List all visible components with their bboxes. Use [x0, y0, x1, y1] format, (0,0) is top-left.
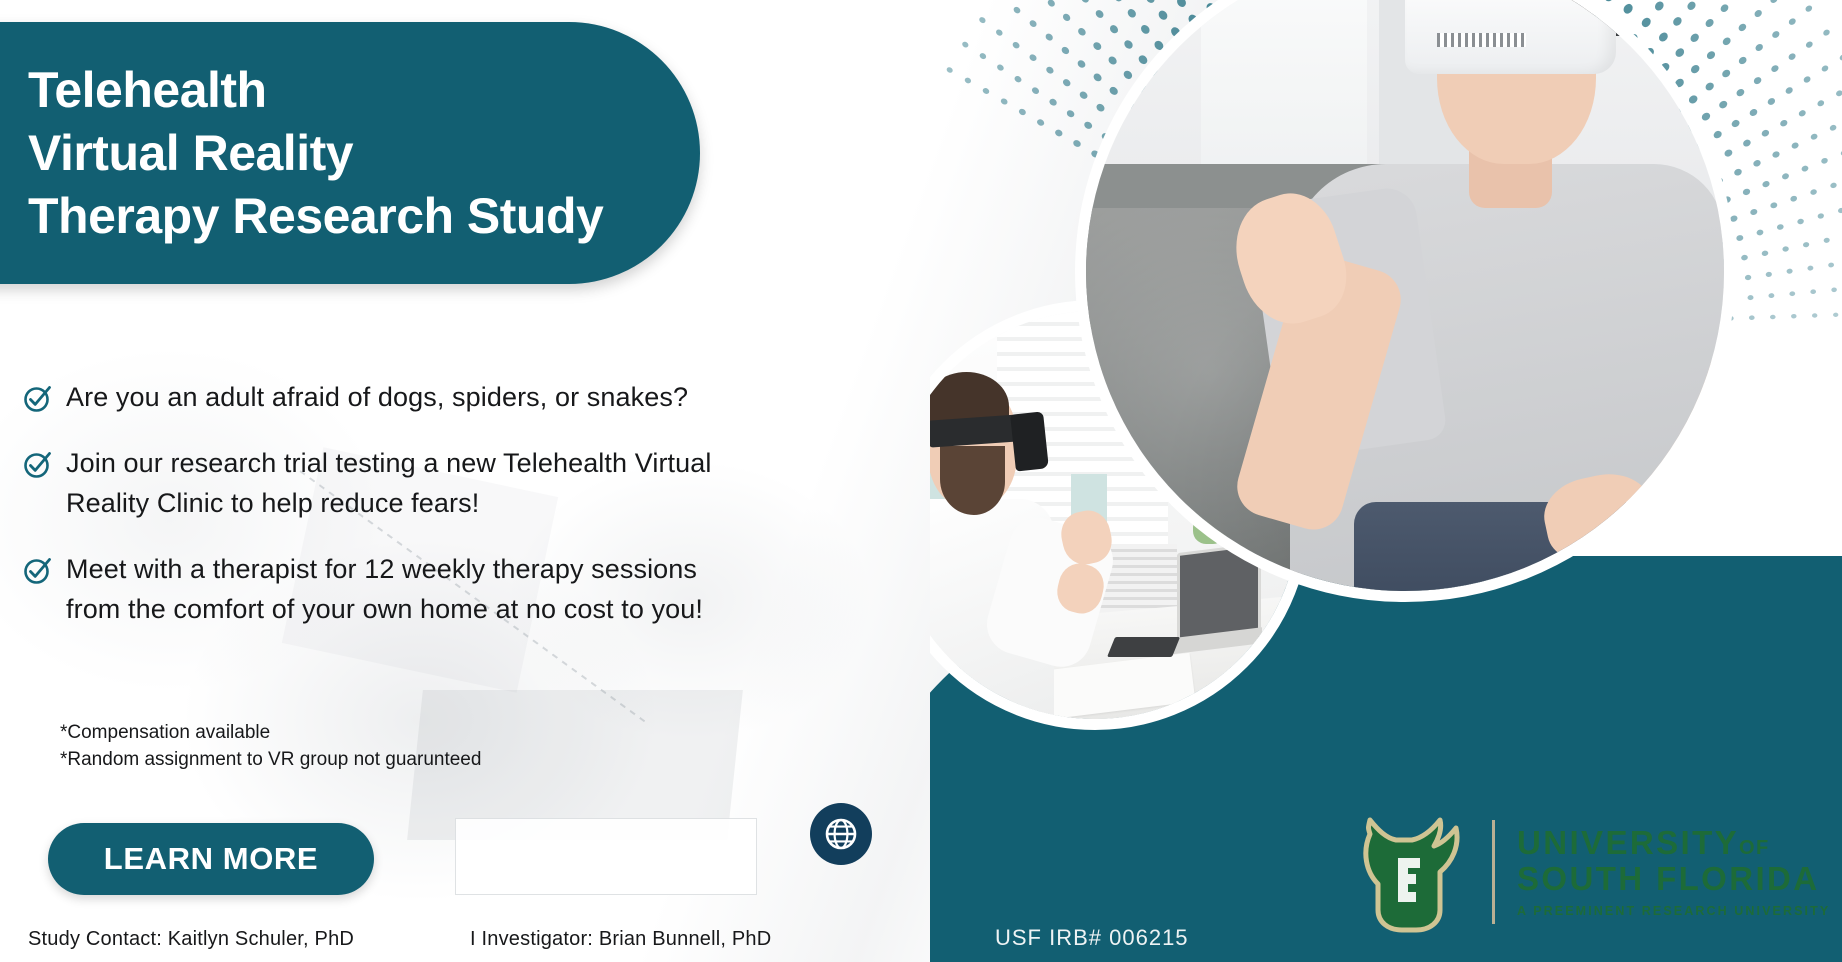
usf-of-text: OF — [1739, 837, 1770, 859]
list-item-line: Meet with a therapist for 12 weekly ther… — [66, 550, 703, 590]
globe-glyph-icon — [821, 814, 861, 854]
vr-user-couch-photo — [1075, 0, 1735, 602]
list-item-text: Join our research trial testing a new Te… — [66, 444, 711, 524]
usf-wordmark: UNIVERSITYOF SOUTH FLORIDA A PREEMINENT … — [1517, 826, 1830, 918]
usf-line-2: SOUTH FLORIDA — [1517, 861, 1830, 898]
fineprint: *Compensation available *Random assignme… — [60, 720, 481, 774]
study-contact-text: Study Contact: Kaitlyn Schuler, PhD — [28, 928, 354, 951]
list-item-line: from the comfort of your own home at no … — [66, 590, 703, 630]
background-shape — [455, 818, 757, 895]
list-item: Are you an adult afraid of dogs, spiders… — [22, 378, 812, 418]
check-circle-icon — [22, 554, 54, 586]
fineprint-line-2: *Random assignment to VR group not guaru… — [60, 747, 481, 774]
learn-more-button[interactable]: LEARN MORE — [48, 823, 374, 895]
logo-divider — [1492, 820, 1495, 924]
fineprint-line-1: *Compensation available — [60, 720, 481, 747]
list-item-line: Join our research trial testing a new Te… — [66, 444, 711, 484]
investigator-text: I Investigator: Brian Bunnell, PhD — [470, 928, 771, 951]
check-circle-icon — [22, 448, 54, 480]
list-item-text: Meet with a therapist for 12 weekly ther… — [66, 550, 703, 630]
list-item: Meet with a therapist for 12 weekly ther… — [22, 550, 812, 630]
list-item-line: Reality Clinic to help reduce fears! — [66, 484, 711, 524]
title-line-3: Therapy Research Study — [28, 185, 700, 248]
list-item-line: Are you an adult afraid of dogs, spiders… — [66, 378, 688, 418]
list-item: Join our research trial testing a new Te… — [22, 444, 812, 524]
bullet-list: Are you an adult afraid of dogs, spiders… — [22, 378, 812, 656]
title-line-1: Telehealth — [28, 59, 700, 122]
usf-line-1: UNIVERSITYOF — [1517, 826, 1830, 861]
title-banner: Telehealth Virtual Reality Therapy Resea… — [0, 22, 700, 284]
irb-number-text: USF IRB# 006215 — [995, 925, 1189, 951]
usf-logo: UNIVERSITYOF SOUTH FLORIDA A PREEMINENT … — [1352, 798, 1832, 946]
globe-icon[interactable] — [810, 803, 872, 865]
usf-tagline: A PREEMINENT RESEARCH UNIVERSITY — [1517, 904, 1830, 918]
poster-flyer: Telehealth Virtual Reality Therapy Resea… — [0, 0, 1842, 962]
check-circle-icon — [22, 382, 54, 414]
usf-bull-icon — [1352, 806, 1484, 938]
list-item-text: Are you an adult afraid of dogs, spiders… — [66, 378, 688, 418]
title-line-2: Virtual Reality — [28, 122, 700, 185]
usf-university-text: UNIVERSITY — [1517, 824, 1739, 861]
